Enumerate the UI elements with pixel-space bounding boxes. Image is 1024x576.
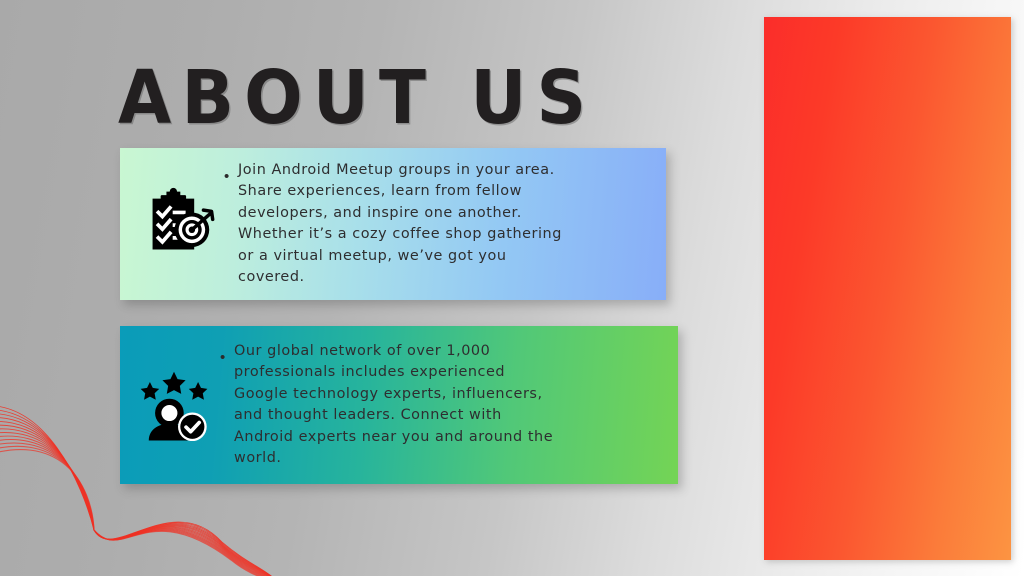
card-text-block: • Join Android Meetup groups in your are…: [224, 160, 666, 289]
clipboard-target-icon: [120, 187, 224, 261]
card-paragraph: Join Android Meetup groups in your area.…: [238, 160, 650, 289]
card-text-block: • Our global network of over 1,000 profe…: [220, 341, 678, 470]
card-paragraph: Our global network of over 1,000 profess…: [234, 341, 662, 470]
page-title: ABOUT US: [118, 57, 596, 139]
content-card-network: • Our global network of over 1,000 profe…: [120, 326, 678, 484]
bullet-marker: •: [224, 160, 238, 289]
content-card-meetups: • Join Android Meetup groups in your are…: [120, 148, 666, 300]
person-stars-verified-icon: [120, 369, 220, 441]
slide-canvas: ABOUT US: [0, 0, 1024, 576]
accent-panel: [764, 17, 1011, 560]
bullet-marker: •: [220, 341, 234, 470]
